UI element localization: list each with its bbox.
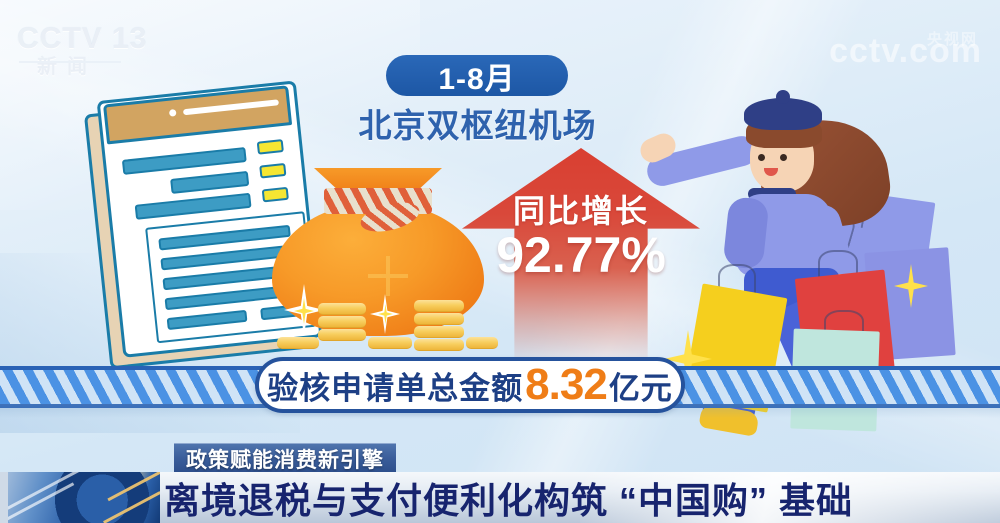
broadcast-graphic: CCTV 13 新闻 央视网 cctv.com 1-8月 北京双枢纽机场 xyxy=(0,0,1000,523)
eye xyxy=(758,154,765,161)
coin xyxy=(318,316,366,328)
form-line xyxy=(135,193,252,220)
coin-stack xyxy=(466,337,498,349)
lower-third-headline: 离境退税与支付便利化构筑 “中国购” 基础 xyxy=(164,474,1000,521)
form-line xyxy=(170,171,249,194)
form-line xyxy=(122,147,247,175)
coin-stack xyxy=(414,300,464,344)
cctv-watermark-cn: 央视网 xyxy=(927,28,978,49)
amount-capsule: 验核申请单总金额 8.32 亿元 xyxy=(255,357,685,413)
coin-stack xyxy=(368,337,412,349)
period-badge: 1-8月 xyxy=(386,55,568,96)
lower-third-globe-edge xyxy=(0,472,8,523)
lower-third-kicker-label: 政策赋能消费新引擎 xyxy=(186,444,384,474)
form-checkbox xyxy=(257,139,284,155)
form-line xyxy=(167,310,248,330)
coin xyxy=(466,337,498,349)
eye xyxy=(780,154,787,161)
clipboard-clip-line xyxy=(183,99,279,115)
cctv13-logo-text: CCTV 13 xyxy=(17,24,157,54)
lower-third-kicker: 政策赋能消费新引擎 xyxy=(174,443,396,473)
beret-knob xyxy=(776,90,790,104)
coin xyxy=(318,303,366,315)
coin-stack xyxy=(318,303,366,343)
cctv13-logo-subtext: 新闻 xyxy=(37,57,157,77)
cctv-watermark: 央视网 cctv.com xyxy=(829,32,982,71)
subject-title: 北京双枢纽机场 xyxy=(340,99,615,147)
coin xyxy=(368,337,412,349)
cctv13-logo: CCTV 13 新闻 xyxy=(17,24,157,86)
coin-stack xyxy=(277,337,319,349)
coin xyxy=(414,326,464,338)
cctv13-logo-underline xyxy=(19,61,121,63)
clipboard-clip-dot xyxy=(169,109,177,117)
coin xyxy=(277,337,319,349)
period-badge-label: 1-8月 xyxy=(438,54,515,98)
globe-streak xyxy=(8,472,83,512)
amount-value: 8.32 xyxy=(525,360,607,410)
coin xyxy=(414,339,464,351)
amount-unit: 亿元 xyxy=(609,363,673,408)
coin xyxy=(318,329,366,341)
money-bag-shine xyxy=(366,254,410,298)
coin xyxy=(414,300,464,312)
amount-label: 验核申请单总金额 xyxy=(267,363,523,408)
coin xyxy=(414,313,464,325)
cctv-globe-icon xyxy=(8,472,160,523)
shopper-illustration xyxy=(640,78,970,378)
